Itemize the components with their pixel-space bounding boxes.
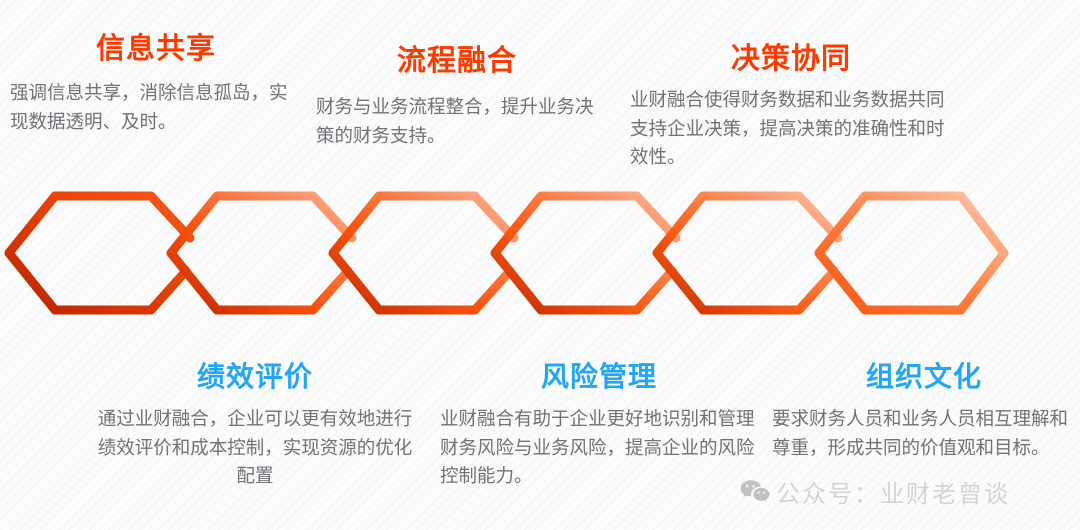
watermark: 公众号：业财老曾谈: [740, 474, 1010, 509]
hexagon-5: [657, 196, 838, 310]
hexagon-3: [333, 196, 514, 310]
hexagon-4: [495, 196, 676, 310]
hexagon-1: [9, 196, 190, 310]
body-risk-management: 业财融合有助于企业更好地识别和管理财务风险与业务风险，提高企业的风险控制能力。: [440, 405, 758, 489]
watermark-text: 公众号：业财老曾谈: [776, 474, 1010, 509]
heading-process-integration: 流程融合: [316, 46, 598, 76]
heading-information-sharing: 信息共享: [10, 34, 302, 64]
body-performance-evaluation: 通过业财融合，企业可以更有效地进行绩效评价和成本控制，实现资源的优化配置: [95, 405, 415, 489]
body-information-sharing: 强调信息共享，消除信息孤岛，实现数据透明、及时。: [10, 79, 302, 135]
text-block-process-integration: 流程融合 财务与业务流程整合，提升业务决策的财务支持。: [316, 34, 598, 150]
hexagon-2: [171, 196, 352, 310]
heading-performance-evaluation: 绩效评价: [95, 362, 415, 391]
heading-organizational-culture: 组织文化: [772, 362, 1076, 391]
text-block-organizational-culture: 组织文化 要求财务人员和业务人员相互理解和尊重，形成共同的价值观和目标。: [772, 362, 1076, 462]
text-block-risk-management: 风险管理 业财融合有助于企业更好地识别和管理财务风险与业务风险，提高企业的风险控…: [440, 362, 758, 490]
hexagon-chain-diagram: [0, 186, 1080, 346]
slide-canvas: 信息共享 强调信息共享，消除信息孤岛，实现数据透明、及时。 流程融合 财务与业务…: [0, 0, 1080, 530]
body-organizational-culture: 要求财务人员和业务人员相互理解和尊重，形成共同的价值观和目标。: [772, 405, 1076, 461]
text-block-decision-collaboration: 决策协同 业财融合使得财务数据和业务数据共同支持企业决策，提高决策的准确性和时效…: [630, 34, 952, 171]
hexagon-6: [819, 196, 1004, 310]
text-block-information-sharing: 信息共享 强调信息共享，消除信息孤岛，实现数据透明、及时。: [10, 34, 302, 136]
heading-risk-management: 风险管理: [440, 362, 758, 391]
body-process-integration: 财务与业务流程整合，提升业务决策的财务支持。: [316, 93, 598, 149]
text-block-performance-evaluation: 绩效评价 通过业财融合，企业可以更有效地进行绩效评价和成本控制，实现资源的优化配…: [95, 362, 415, 490]
body-decision-collaboration: 业财融合使得财务数据和业务数据共同支持企业决策，提高决策的准确性和时效性。: [630, 86, 952, 170]
heading-decision-collaboration: 决策协同: [630, 44, 952, 74]
